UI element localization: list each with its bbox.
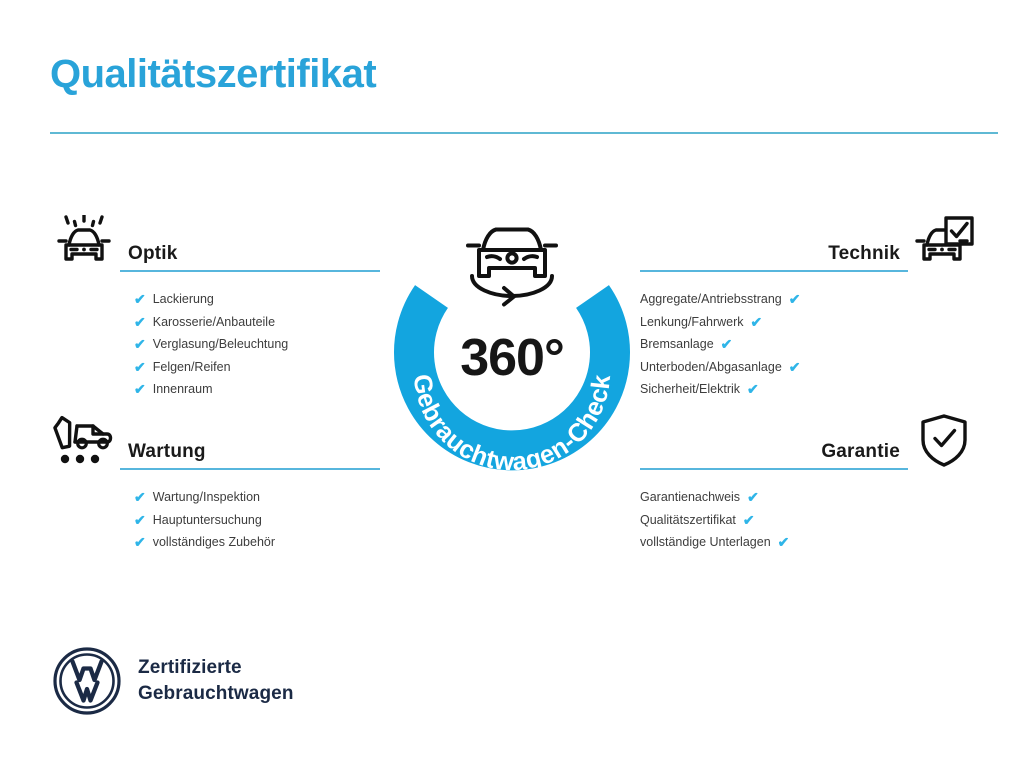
- check-icon: ✔: [778, 531, 790, 554]
- section-technik-title-wrap: Technik: [640, 243, 908, 274]
- list-item-label: Karosserie/Anbauteile: [153, 311, 275, 334]
- section-wartung-title-wrap: Wartung: [120, 441, 380, 472]
- section-title: Garantie: [640, 441, 908, 468]
- section-wartung-list: ✔Wartung/Inspektion ✔Hauptuntersuchung ✔…: [48, 486, 380, 554]
- list-item-label: vollständige Unterlagen: [640, 531, 771, 554]
- section-underline: [120, 468, 380, 470]
- list-item-label: Hauptuntersuchung: [153, 509, 262, 532]
- list-item-label: Verglasung/Beleuchtung: [153, 333, 289, 356]
- list-item-label: Bremsanlage: [640, 333, 714, 356]
- section-garantie-header: Garantie: [640, 400, 980, 472]
- check-icon: ✔: [134, 486, 146, 509]
- vw-footer: Zertifizierte Gebrauchtwagen: [52, 646, 294, 716]
- quality-certificate-page: Qualitätszertifikat Optik: [0, 0, 1024, 768]
- list-item: ✔Bremsanlage: [640, 333, 980, 356]
- check-icon: ✔: [747, 378, 759, 401]
- section-wartung-header: Wartung: [48, 400, 380, 472]
- list-item-label: vollständiges Zubehör: [153, 531, 275, 554]
- list-item-label: Lenkung/Fahrwerk: [640, 311, 744, 334]
- shield-check-icon: [908, 410, 980, 472]
- section-title: Optik: [120, 243, 380, 270]
- section-optik-header: Optik: [48, 202, 380, 274]
- section-underline: [640, 468, 908, 470]
- list-item: ✔Unterboden/Abgasanlage: [640, 356, 980, 379]
- check-icon: ✔: [789, 356, 801, 379]
- check-icon: ✔: [134, 531, 146, 554]
- list-item: ✔vollständige Unterlagen: [640, 531, 980, 554]
- list-item-label: Qualitätszertifikat: [640, 509, 736, 532]
- list-item-label: Lackierung: [153, 288, 214, 311]
- section-garantie-title-wrap: Garantie: [640, 441, 908, 472]
- section-technik-header: Technik: [640, 202, 980, 274]
- list-item: ✔Qualitätszertifikat: [640, 509, 980, 532]
- list-item: ✔Felgen/Reifen: [134, 356, 380, 379]
- list-item: ✔Karosserie/Anbauteile: [134, 311, 380, 334]
- volkswagen-logo: [52, 646, 122, 716]
- check-icon: ✔: [721, 333, 733, 356]
- section-optik: Optik ✔Lackierung ✔Karosserie/Anbauteile…: [48, 202, 380, 401]
- section-title: Technik: [640, 243, 908, 270]
- check-icon: ✔: [134, 288, 146, 311]
- section-garantie-list: ✔Garantienachweis ✔Qualitätszertifikat ✔…: [640, 486, 980, 554]
- list-item-label: Unterboden/Abgasanlage: [640, 356, 782, 379]
- section-optik-title-wrap: Optik: [120, 243, 380, 274]
- list-item: ✔Verglasung/Beleuchtung: [134, 333, 380, 356]
- section-title: Wartung: [120, 441, 380, 468]
- check-icon: ✔: [747, 486, 759, 509]
- car-front-checkbox-icon: [908, 212, 980, 274]
- section-underline: [640, 270, 908, 272]
- section-technik-list: ✔Aggregate/Antriebsstrang ✔Lenkung/Fahrw…: [640, 288, 980, 401]
- car-front-rotate-icon: [468, 230, 556, 305]
- list-item-label: Sicherheit/Elektrik: [640, 378, 740, 401]
- check-icon: ✔: [743, 509, 755, 532]
- list-item: ✔vollständiges Zubehör: [134, 531, 380, 554]
- list-item-label: Wartung/Inspektion: [153, 486, 260, 509]
- section-garantie: Garantie ✔Garantienachweis ✔Qualitätszer…: [640, 400, 980, 554]
- check-icon: ✔: [134, 311, 146, 334]
- section-optik-list: ✔Lackierung ✔Karosserie/Anbauteile ✔Verg…: [48, 288, 380, 401]
- check-icon: ✔: [134, 509, 146, 532]
- header-divider: [50, 132, 998, 134]
- list-item-label: Innenraum: [153, 378, 213, 401]
- list-item-label: Aggregate/Antriebsstrang: [640, 288, 782, 311]
- list-item: ✔Wartung/Inspektion: [134, 486, 380, 509]
- section-underline: [120, 270, 380, 272]
- list-item: ✔Garantienachweis: [640, 486, 980, 509]
- check-icon: ✔: [751, 311, 763, 334]
- vw-footer-text: Zertifizierte Gebrauchtwagen: [138, 655, 294, 707]
- car-oil-dipstick-icon: [48, 410, 120, 472]
- check-icon: ✔: [789, 288, 801, 311]
- badge-360-gebrauchtwagen-check: Gebrauchtwagen-Check 360°: [378, 196, 646, 496]
- check-icon: ✔: [134, 333, 146, 356]
- section-technik: Technik ✔Aggregate/Antriebsstrang ✔Lenku…: [640, 202, 980, 401]
- list-item-label: Garantienachweis: [640, 486, 740, 509]
- section-wartung: Wartung ✔Wartung/Inspektion ✔Hauptunters…: [48, 400, 380, 554]
- vw-footer-line1: Zertifizierte: [138, 655, 294, 681]
- list-item: ✔Aggregate/Antriebsstrang: [640, 288, 980, 311]
- list-item: ✔Sicherheit/Elektrik: [640, 378, 980, 401]
- list-item: ✔Lackierung: [134, 288, 380, 311]
- list-item: ✔Hauptuntersuchung: [134, 509, 380, 532]
- list-item: ✔Innenraum: [134, 378, 380, 401]
- car-front-shine-icon: [48, 212, 120, 274]
- list-item: ✔Lenkung/Fahrwerk: [640, 311, 980, 334]
- page-title: Qualitätszertifikat: [50, 52, 376, 96]
- check-icon: ✔: [134, 378, 146, 401]
- check-icon: ✔: [134, 356, 146, 379]
- badge-center-text: 360°: [378, 328, 646, 388]
- vw-footer-line2: Gebrauchtwagen: [138, 681, 294, 707]
- list-item-label: Felgen/Reifen: [153, 356, 231, 379]
